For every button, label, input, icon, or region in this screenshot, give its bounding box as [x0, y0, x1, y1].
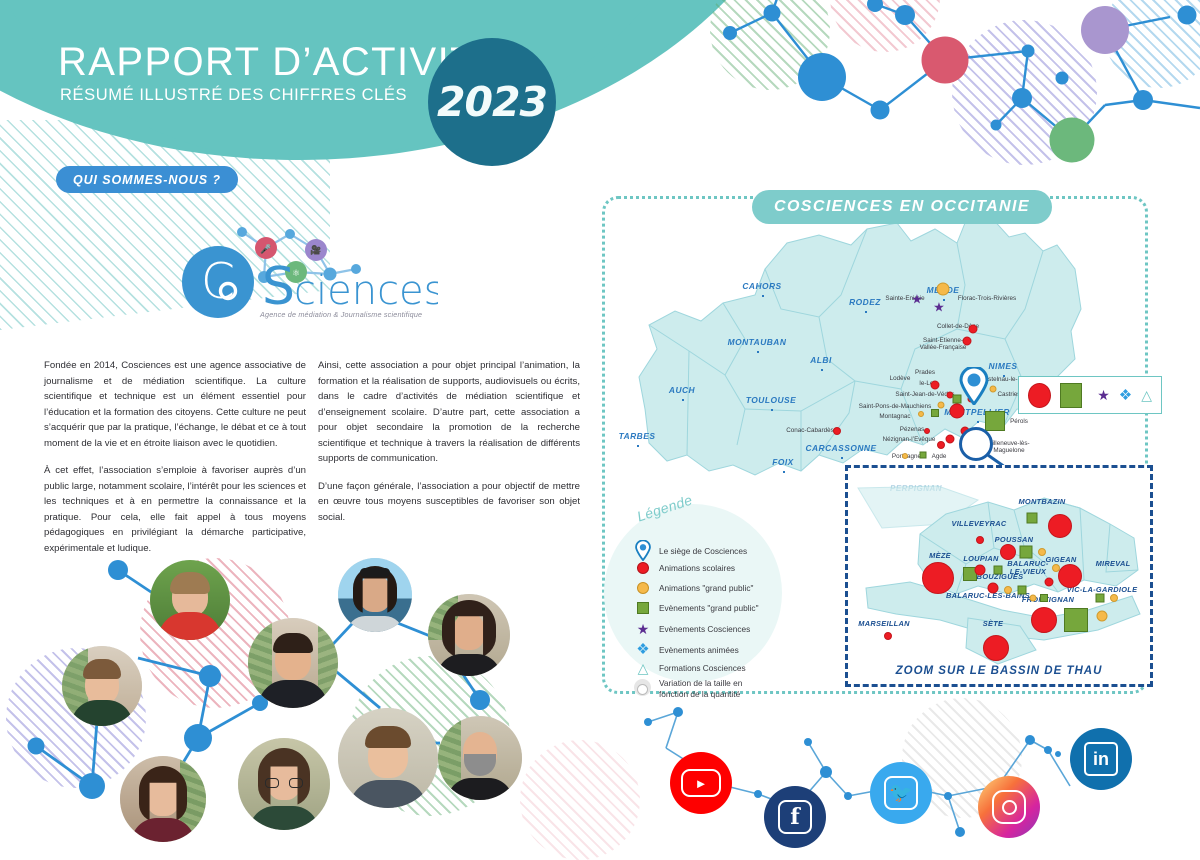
network-node: [1012, 88, 1032, 108]
department-dot: [762, 295, 764, 297]
camera-icon: 🎥: [310, 244, 321, 256]
legend-label: Variation de la taille en fonction de la…: [659, 678, 767, 700]
town-label: Pézenas: [900, 426, 925, 433]
about-paragraph: Fondée en 2014, Cosciences est une agenc…: [44, 358, 306, 451]
orange-circle-icon: [938, 402, 945, 409]
legend-item-formations-cosciences: △ Formations Cosciences: [634, 661, 746, 675]
red-circle-icon: [884, 632, 892, 640]
network-node: [79, 773, 105, 799]
linkedin-icon[interactable]: in: [1070, 728, 1132, 790]
legend-item-evenements-cosciences: ★ Evènements Cosciences: [634, 622, 750, 636]
legend-label: Animations "grand public": [659, 583, 753, 593]
red-circle-icon: [922, 562, 954, 594]
logo-s-text: S: [262, 257, 295, 317]
microphone-icon: 🎤: [260, 243, 271, 255]
legend-item-animations-grand-public: Animations "grand public": [634, 582, 753, 594]
department-dot: [865, 311, 867, 313]
town-label: Saint-Etienne-Vallée-Française: [920, 337, 967, 351]
logo-co-text: C: [201, 253, 235, 310]
town-label: Montagnac: [879, 413, 910, 420]
green-square-icon: [931, 409, 939, 417]
legend-label: Evènements "grand public": [659, 603, 759, 613]
network-node-accent: [1050, 118, 1095, 163]
purple-star-icon: ★: [634, 622, 652, 636]
thau-zoom-inset: PERPIGNAN MONTBAZINVILLEVEYRACPOUSSANMÈZ…: [845, 465, 1153, 687]
orange-circle-icon: [918, 411, 924, 417]
teal-triangle-icon: △: [634, 661, 652, 675]
network-node-accent: [922, 37, 969, 84]
about-paragraph: Ainsi, cette association a pour objet pr…: [318, 358, 580, 467]
twitter-icon[interactable]: 🐦: [870, 762, 932, 824]
red-circle-icon: [833, 427, 841, 435]
legend-label: Animations scolaires: [659, 563, 735, 573]
department-label: CARCASSONNE: [805, 443, 876, 453]
about-text-left: Fondée en 2014, Cosciences est une agenc…: [44, 358, 306, 556]
map-pin-icon: [634, 540, 652, 561]
inset-place-label: MIREVAL: [1096, 560, 1131, 568]
red-circle-icon: [1028, 383, 1051, 408]
green-square-icon: [1020, 546, 1033, 559]
department-dot: [783, 471, 785, 473]
green-square-icon: [1040, 594, 1048, 602]
green-square-icon: [1060, 383, 1083, 408]
orange-circle-icon: [634, 582, 652, 594]
team-photo-1: [150, 560, 230, 640]
green-square-icon: [920, 452, 927, 459]
red-circle-icon: [924, 428, 930, 434]
department-label: TOULOUSE: [746, 395, 796, 405]
orange-circle-icon: [1004, 586, 1012, 594]
network-node: [184, 724, 212, 752]
network-node: [764, 5, 781, 22]
inset-place-label: MARSEILLAN: [858, 620, 909, 628]
instagram-icon[interactable]: [978, 776, 1040, 838]
youtube-icon[interactable]: ►: [670, 752, 732, 814]
inset-place-label: GIGEAN: [1046, 556, 1077, 564]
orange-circle-icon: [1030, 595, 1037, 602]
year-badge: 2023: [428, 38, 556, 166]
team-photo-6: [338, 708, 438, 808]
team-photo-4: [248, 618, 338, 708]
green-square-icon: [1027, 513, 1038, 524]
red-circle-icon: [976, 536, 984, 544]
inset-place-label: MONTBAZIN: [1018, 498, 1065, 506]
section-badge-qui-sommes-nous: QUI SOMMES-NOUS ?: [56, 166, 238, 193]
green-square-icon: [985, 411, 1005, 431]
legend-item-animations-scolaires: Animations scolaires: [634, 562, 735, 574]
inset-place-label: SÈTE: [983, 620, 1004, 628]
town-label: Florac-Trois-Rivières: [958, 295, 1016, 302]
logo-tagline: Agence de médiation & Journalisme scient…: [260, 310, 422, 319]
cosciences-logo: 🎤 🎥 ⚛ C S ciences Agence de médiation & …: [178, 222, 438, 332]
team-photo-5: [238, 738, 330, 830]
legend-item-evenements-animees: ❖ Evènements animées: [634, 642, 739, 657]
teal-triangle-icon: △: [1141, 388, 1152, 402]
about-paragraph: À cet effet, l’association s’emploie à f…: [44, 463, 306, 556]
green-square-icon: [1064, 608, 1088, 632]
department-dot: [682, 399, 684, 401]
purple-star-icon: ★: [911, 293, 923, 306]
department-label: NIMES: [988, 361, 1017, 371]
network-node: [798, 53, 846, 101]
department-label: TARBES: [619, 431, 656, 441]
red-circle-icon: [1048, 514, 1072, 538]
team-photo-7: [338, 558, 412, 632]
town-label: Lodève: [890, 375, 911, 382]
network-node: [28, 738, 45, 755]
department-dot: [637, 445, 639, 447]
inset-place-label: LOUPIAN: [963, 555, 998, 563]
about-text-right: Ainsi, cette association a pour objet pr…: [318, 358, 580, 525]
red-circle-icon: [950, 404, 965, 419]
department-label: ALBI: [810, 355, 832, 365]
network-node: [470, 690, 490, 710]
network-node: [108, 560, 128, 580]
network-node: [895, 5, 915, 25]
red-circle-icon: [931, 381, 940, 390]
map-pin-icon[interactable]: [959, 367, 989, 405]
orange-circle-icon: [1038, 548, 1046, 556]
green-square-icon: [994, 566, 1003, 575]
orange-circle-icon: [937, 283, 950, 296]
purple-star-icon: ★: [1097, 388, 1110, 402]
department-label: AUCH: [669, 385, 695, 395]
red-circle-icon: [1031, 607, 1057, 633]
town-label: Prades: [915, 369, 935, 376]
social-links-section: ► f 🐦 in: [630, 700, 1190, 840]
red-circle-icon: [1000, 544, 1016, 560]
orange-circle-icon: [990, 386, 997, 393]
red-circle-icon: [946, 435, 955, 444]
size-variation-icon: [634, 678, 652, 698]
network-node: [199, 665, 221, 687]
orange-circle-icon: [1110, 594, 1118, 602]
red-circle-icon: [969, 325, 978, 334]
blue-burst-icon: ❖: [634, 642, 652, 657]
department-dot: [977, 421, 979, 423]
legend-item-size-variation: Variation de la taille en fonction de la…: [634, 678, 767, 700]
town-label: Saint-Pons-de-Mauchiens: [859, 403, 931, 410]
red-circle-icon: [963, 337, 972, 346]
logo-ciences-text: ciences: [294, 268, 438, 314]
inset-caption: ZOOM SUR LE BASSIN DE THAU: [896, 665, 1103, 677]
red-circle-icon: [975, 565, 986, 576]
green-square-icon: [634, 602, 652, 614]
purple-star-icon: ★: [933, 301, 945, 314]
red-circle-icon: [1058, 564, 1082, 588]
inset-place-label: MÈZE: [929, 552, 951, 560]
map-legend: Légende Le siège de Cosciences Animation…: [612, 500, 797, 690]
legend-label: Evènements Cosciences: [659, 624, 750, 634]
team-photo-8: [428, 594, 510, 676]
legend-label: Formations Cosciences: [659, 663, 746, 673]
department-dot: [771, 409, 773, 411]
team-photos-section: [20, 548, 600, 848]
department-dot: [821, 369, 823, 371]
network-node: [1133, 90, 1153, 110]
town-label: Agde: [932, 453, 947, 460]
red-circle-icon: [988, 583, 999, 594]
map-symbol-key: ★ ❖ △: [1018, 376, 1162, 414]
orange-circle-icon: [902, 453, 908, 459]
inset-place-label: VILLEVEYRAC: [951, 520, 1006, 528]
map-title-banner: COSCIENCES EN OCCITANIE: [752, 190, 1052, 224]
report-page: RAPPORT D’ACTIVITE RÉSUMÉ ILLUSTRÉ DES C…: [0, 0, 1200, 848]
town-label: Conac-Cabardès: [786, 427, 834, 434]
town-label: Villeneuve-lès-Maguelone: [988, 440, 1029, 454]
department-dot: [841, 457, 843, 459]
department-label: CAHORS: [742, 281, 781, 291]
network-node: [1178, 6, 1197, 25]
department-dot: [757, 351, 759, 353]
blue-burst-icon: ❖: [1119, 388, 1132, 403]
page-subtitle: RÉSUMÉ ILLUSTRÉ DES CHIFFRES CLÉS: [60, 86, 407, 105]
inset-place-label: POUSSAN: [995, 536, 1034, 544]
legend-label: Le siège de Cosciences: [659, 546, 747, 556]
orange-circle-icon: [1097, 611, 1108, 622]
legend-label: Evènements animées: [659, 645, 739, 655]
network-node-accent: [1081, 6, 1129, 54]
town-label: Nézignan-l’Evêque: [883, 436, 936, 443]
about-paragraph: D’une façon générale, l’association a po…: [318, 479, 580, 526]
town-label: Pérols: [1010, 418, 1028, 425]
network-node: [871, 101, 890, 120]
network-node: [723, 26, 737, 40]
red-circle-icon: [983, 635, 1009, 661]
department-label: MONTAUBAN: [728, 337, 787, 347]
legend-item-siege: Le siège de Cosciences: [634, 540, 747, 561]
department-label: RODEZ: [849, 297, 881, 307]
green-square-icon: [1096, 594, 1105, 603]
network-node: [991, 120, 1002, 131]
network-node: [1022, 45, 1035, 58]
network-decoration: [700, 0, 1200, 180]
team-photo-3: [120, 756, 206, 842]
red-circle-icon: [1045, 578, 1054, 587]
team-photo-2: [62, 646, 142, 726]
red-circle-icon: [937, 441, 945, 449]
facebook-icon[interactable]: f: [764, 786, 826, 848]
team-photo-9: [438, 716, 522, 800]
green-square-icon: [1018, 586, 1027, 595]
legend-item-evenements-grand-public: Evènements "grand public": [634, 602, 759, 614]
year-label: 2023: [437, 78, 547, 126]
department-label: FOIX: [772, 457, 794, 467]
network-node: [1056, 72, 1069, 85]
red-circle-icon: [634, 562, 652, 574]
